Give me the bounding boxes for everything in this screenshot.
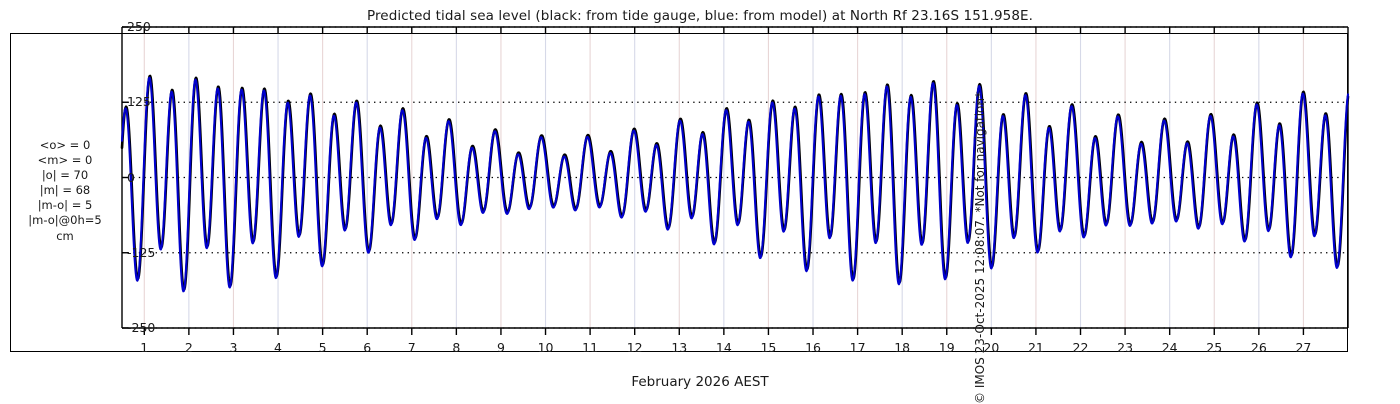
x-tick-label: 25 xyxy=(1199,340,1229,355)
x-tick-label: 14 xyxy=(709,340,739,355)
x-tick-label: 7 xyxy=(397,340,427,355)
x-tick-label: 23 xyxy=(1110,340,1140,355)
series-line-model xyxy=(122,78,1348,292)
x-tick-label: 9 xyxy=(486,340,516,355)
horizontal-gridlines xyxy=(122,27,1348,328)
x-tick-label: 15 xyxy=(753,340,783,355)
y-tick-label: 125 xyxy=(127,94,151,109)
x-tick-label: 26 xyxy=(1244,340,1274,355)
y-tick-label: -250 xyxy=(127,320,155,335)
tidal-chart-figure: Predicted tidal sea level (black: from t… xyxy=(0,0,1400,400)
y-tick-label: 250 xyxy=(127,19,151,34)
plot-canvas xyxy=(0,0,1400,400)
x-tick-label: 4 xyxy=(263,340,293,355)
x-tick-label: 18 xyxy=(887,340,917,355)
x-tick-label: 27 xyxy=(1288,340,1318,355)
x-axis-title: February 2026 AEST xyxy=(0,374,1400,390)
x-tick-label: 3 xyxy=(218,340,248,355)
x-tick-label: 21 xyxy=(1021,340,1051,355)
series-line-observed xyxy=(122,76,1348,290)
x-tick-label: 19 xyxy=(932,340,962,355)
x-tick-label: 24 xyxy=(1155,340,1185,355)
x-tick-label: 6 xyxy=(352,340,382,355)
y-tick-label: 0 xyxy=(127,170,135,185)
x-tick-label: 16 xyxy=(798,340,828,355)
x-tick-label: 17 xyxy=(843,340,873,355)
x-tick-label: 2 xyxy=(174,340,204,355)
x-tick-label: 13 xyxy=(664,340,694,355)
copyright-notice: © IMOS 23-Oct-2025 12:08:07. *Not for na… xyxy=(973,4,989,404)
x-tick-label: 5 xyxy=(308,340,338,355)
x-tick-label: 12 xyxy=(620,340,650,355)
x-tick-label: 10 xyxy=(531,340,561,355)
x-tick-label: 22 xyxy=(1066,340,1096,355)
x-tick-label: 11 xyxy=(575,340,605,355)
x-tick-label: 8 xyxy=(441,340,471,355)
y-tick-label: -125 xyxy=(127,245,155,260)
x-tick-label: 1 xyxy=(129,340,159,355)
